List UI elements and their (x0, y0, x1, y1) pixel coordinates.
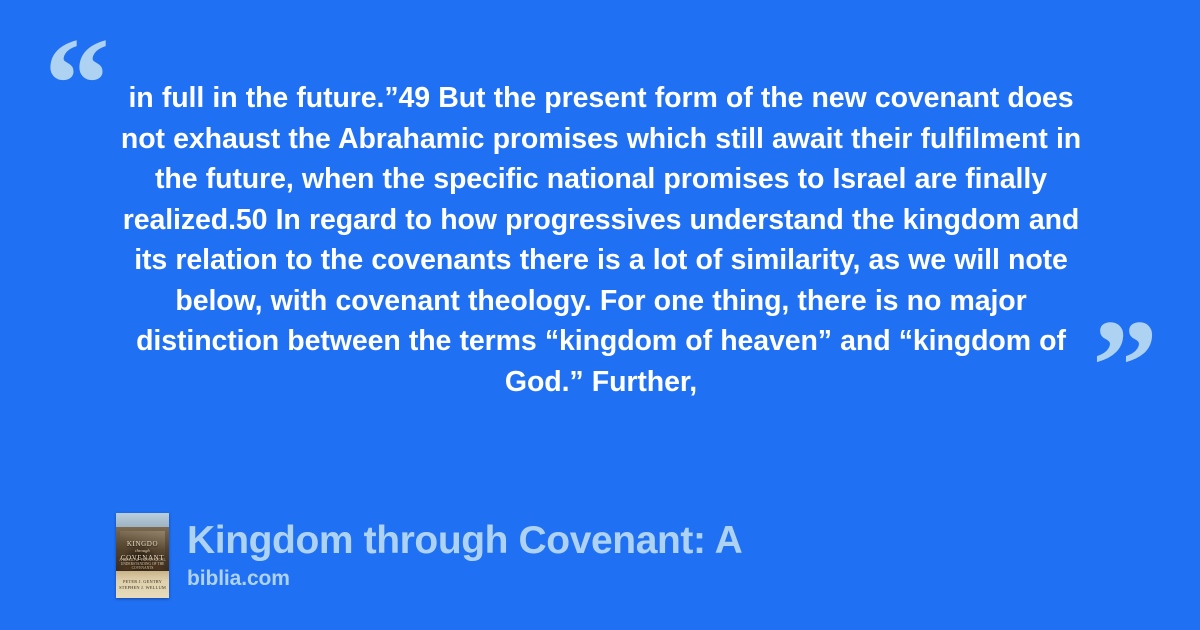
attribution-text-group: Kingdom through Covenant: A biblia.com (187, 518, 742, 593)
quote-share-card: “ in full in the future.”49 But the pres… (0, 0, 1200, 630)
site-name: biblia.com (187, 565, 742, 593)
open-quote-icon: “ (44, 18, 110, 150)
attribution-footer: KINGDO through COVENANT A BIBLICAL-THEOL… (116, 513, 742, 598)
close-quote-icon: ” (1092, 300, 1158, 432)
quote-text: in full in the future.”49 But the presen… (110, 78, 1092, 402)
book-cover-connector-word: through (116, 548, 169, 553)
book-title: Kingdom through Covenant: A (187, 518, 742, 564)
book-cover-subtitle: A BIBLICAL-THEOLOGICAL UNDERSTANDING OF … (116, 558, 169, 570)
book-cover-title-line-1: KINGDO (116, 540, 169, 548)
book-cover-author-2: STEPHEN J. WELLUM (116, 585, 169, 591)
book-cover-authors: PETER J. GENTRY STEPHEN J. WELLUM (116, 579, 169, 591)
book-cover-thumbnail: KINGDO through COVENANT A BIBLICAL-THEOL… (116, 513, 169, 598)
